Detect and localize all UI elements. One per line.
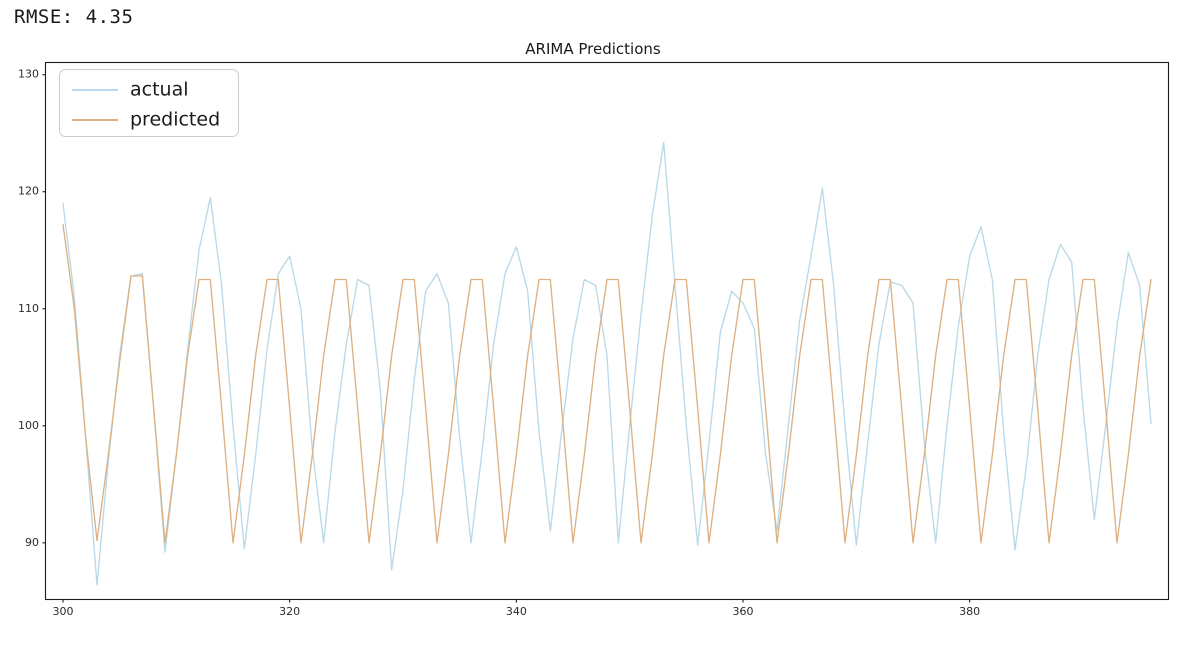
plot-area: 90100110120130 300320340360380400 actual… bbox=[0, 0, 1186, 652]
x-axis-ticks: 300320340360380400 bbox=[53, 599, 1186, 618]
data-series bbox=[63, 143, 1151, 585]
legend-label-predicted: predicted bbox=[130, 109, 220, 131]
x-tick-label: 300 bbox=[53, 605, 74, 618]
series-line-predicted bbox=[63, 225, 1151, 543]
x-tick-label: 380 bbox=[959, 605, 980, 618]
y-tick-label: 110 bbox=[18, 302, 39, 315]
series-line-actual bbox=[63, 143, 1151, 585]
axes: 90100110120130 300320340360380400 bbox=[18, 63, 1186, 619]
y-axis-ticks: 90100110120130 bbox=[18, 68, 46, 549]
x-tick-label: 320 bbox=[279, 605, 300, 618]
rmse-label: RMSE: 4.35 bbox=[14, 6, 133, 28]
chart-container: RMSE: 4.35 ARIMA Predictions 90100110120… bbox=[0, 0, 1186, 652]
chart-title: ARIMA Predictions bbox=[0, 40, 1186, 58]
y-tick-label: 130 bbox=[18, 68, 39, 81]
y-tick-label: 90 bbox=[25, 536, 39, 549]
y-tick-label: 100 bbox=[18, 419, 39, 432]
legend-label-actual: actual bbox=[130, 79, 189, 101]
y-tick-label: 120 bbox=[18, 185, 39, 198]
plot-frame bbox=[46, 63, 1169, 600]
x-tick-label: 360 bbox=[733, 605, 754, 618]
chart-legend[interactable]: actualpredicted bbox=[60, 70, 239, 137]
x-tick-label: 340 bbox=[506, 605, 527, 618]
